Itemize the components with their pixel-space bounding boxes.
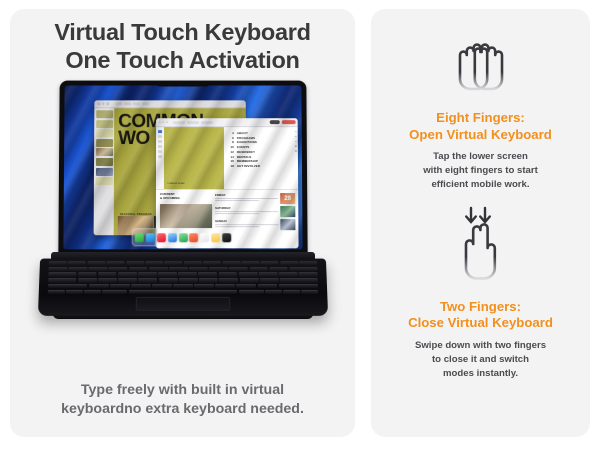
key [257, 284, 277, 288]
key [222, 262, 240, 266]
tip-title-line-1: Eight Fingers: [436, 110, 525, 125]
key [260, 262, 278, 266]
thumbnail-item[interactable] [95, 178, 112, 186]
key [88, 268, 107, 272]
scroll-marker [295, 132, 296, 133]
key-tab [48, 273, 76, 277]
key [118, 279, 137, 283]
key-control [65, 290, 82, 294]
key [278, 273, 297, 277]
browser-tab[interactable] [200, 121, 212, 124]
headline-line-1: Virtual Touch Keyboard [54, 19, 310, 45]
key [145, 262, 163, 266]
macos-dock[interactable] [131, 229, 234, 247]
key [299, 262, 317, 266]
key [209, 268, 228, 272]
key [219, 279, 238, 283]
headline-line-2: One Touch Activation [54, 47, 310, 75]
messages-icon[interactable] [178, 233, 187, 242]
key [189, 268, 208, 272]
key [239, 279, 258, 283]
left-caption: Type freely with built in virtual keyboa… [43, 381, 322, 419]
text-line [215, 200, 259, 201]
key [238, 273, 257, 277]
key [148, 268, 167, 272]
key [138, 279, 157, 283]
sidebar-item[interactable] [158, 145, 162, 148]
scroll-marker [295, 146, 296, 147]
key [87, 262, 105, 266]
tip-title-line-1: Two Fingers: [440, 299, 521, 314]
key [130, 284, 150, 288]
key [183, 262, 201, 266]
page-title: Virtual Touch Keyboard One Touch Activat… [44, 19, 320, 74]
list-item[interactable]: SATURDAY [215, 206, 295, 217]
key-command-right [238, 290, 263, 294]
tip-body-line-1: Tap the lower screen [387, 150, 574, 164]
thumbnail-item[interactable] [95, 158, 112, 166]
key [198, 273, 217, 277]
key-caps [48, 279, 76, 283]
sidebar-item[interactable] [158, 150, 162, 153]
key-return [279, 279, 317, 283]
laptop-lid: COMMON WO SEASONAL PROGRAM [58, 81, 307, 257]
key-fn [47, 290, 64, 294]
tip-title-line-2: Close Virtual Keyboard [381, 315, 580, 332]
day-description [215, 225, 278, 227]
thumbnail-item[interactable] [95, 120, 112, 128]
sidebar-item[interactable] [158, 131, 162, 134]
terminal-icon[interactable] [221, 233, 230, 242]
key [164, 262, 182, 266]
keyboard-row[interactable] [48, 273, 317, 277]
safari-icon[interactable] [145, 233, 154, 242]
right-panel: Eight Fingers: Open Virtual Keyboard Tap… [371, 9, 590, 437]
files-icon[interactable] [211, 233, 220, 242]
key [289, 268, 317, 272]
window-dot-zoom-icon[interactable] [106, 103, 109, 106]
toolbar-chip[interactable] [141, 103, 148, 106]
browser-sidebar[interactable] [155, 128, 163, 190]
key [88, 284, 108, 288]
key [158, 273, 177, 277]
day-thumbnail [280, 206, 295, 217]
key [106, 262, 124, 266]
browser-tab[interactable] [186, 121, 198, 124]
keyboard-row[interactable] [48, 262, 316, 266]
key [118, 273, 137, 277]
date-badge: 28 [280, 193, 295, 204]
key [168, 268, 187, 272]
key [241, 262, 259, 266]
laptop-illustration: COMMON WO SEASONAL PROGRAM [18, 80, 348, 332]
browser-record-button[interactable] [281, 121, 295, 124]
laptop-foot [53, 314, 313, 319]
key [229, 268, 248, 272]
tip-body-line-1: Swipe down with two fingers [387, 339, 574, 353]
scrollbar[interactable] [293, 128, 297, 190]
day-description [215, 212, 278, 214]
day-thumbnail: 28 [280, 193, 295, 204]
key [109, 284, 129, 288]
key [173, 284, 193, 288]
tip-two-fingers: Two Fingers: Close Virtual Keyboard Swip… [371, 198, 590, 381]
key [125, 262, 143, 266]
eight-fingers-two-hands-icon [381, 23, 580, 101]
key [108, 268, 127, 272]
two-fingers-swipe-down-icon [381, 198, 580, 290]
key [280, 262, 298, 266]
toolbar-chip[interactable] [132, 103, 139, 106]
music-icon[interactable] [156, 233, 165, 242]
window-dot-close-icon[interactable] [97, 103, 100, 106]
browser-tab-strip[interactable] [172, 121, 268, 124]
keyboard-row[interactable] [47, 284, 317, 288]
tip-title: Eight Fingers: Open Virtual Keyboard [381, 110, 580, 143]
window-dot-minimize-icon[interactable] [162, 122, 164, 124]
tip-title: Two Fingers: Close Virtual Keyboard [381, 299, 580, 332]
text-line [215, 213, 259, 214]
tip-body-line-2: with eight fingers to start [387, 164, 574, 178]
tip-eight-fingers: Eight Fingers: Open Virtual Keyboard Tap… [371, 23, 590, 192]
key [97, 273, 116, 277]
thumbnail-item[interactable] [95, 130, 112, 138]
key [128, 268, 147, 272]
olive-hero-panel: COMMON WORK [163, 128, 223, 190]
browser-action-button[interactable] [269, 121, 279, 124]
sidebar-item[interactable] [158, 141, 162, 144]
key [202, 262, 220, 266]
browser-tab[interactable] [172, 121, 184, 124]
key [199, 279, 218, 283]
key [218, 273, 237, 277]
keyboard-row[interactable] [48, 279, 318, 283]
left-caption-line-1: Type freely with built in virtual [61, 381, 304, 400]
sidebar-item[interactable] [158, 136, 162, 139]
design-app-toolbar[interactable] [115, 103, 149, 106]
key-command [102, 290, 127, 294]
tip-body: Tap the lower screen with eight fingers … [381, 150, 580, 192]
day-description [215, 198, 278, 200]
scroll-marker [295, 141, 296, 142]
tip-title-line-2: Open Virtual Keyboard [381, 127, 580, 144]
key [68, 268, 87, 272]
key [249, 268, 268, 272]
trackpad[interactable] [135, 297, 230, 311]
sidebar-item[interactable] [158, 155, 162, 158]
toolbar-chip[interactable] [124, 103, 131, 106]
key-arrow-updown [283, 290, 300, 294]
key [48, 262, 66, 266]
photos-icon[interactable] [189, 233, 198, 242]
section-heading: CURRENT & UPCOMING [159, 193, 211, 201]
day-label: SUNDAY [215, 220, 278, 224]
physical-keyboard[interactable] [47, 262, 317, 294]
design-app-thumbnail-rail[interactable] [93, 109, 114, 236]
keyboard-row[interactable] [48, 268, 317, 272]
keyboard-row[interactable] [47, 290, 317, 294]
site-menu-list[interactable]: 4 ABOUT 6 PROGRAMS 8 EXH [223, 128, 293, 190]
key-space [128, 290, 237, 294]
key-option [84, 290, 101, 294]
window-dot-close-icon[interactable] [158, 122, 160, 124]
key-arrow-left [265, 290, 282, 294]
scroll-marker [295, 151, 296, 152]
key [215, 284, 235, 288]
thumbnail-item[interactable] [95, 168, 112, 176]
list-item[interactable]: 18 GET INVOLVED [228, 164, 289, 169]
notes-icon[interactable] [200, 233, 209, 242]
webcam-notch [156, 81, 210, 87]
toolbar-chip[interactable] [115, 103, 122, 106]
tip-body: Swipe down with two fingers to close it … [381, 339, 580, 381]
key [77, 273, 96, 277]
list-item[interactable]: FRIDAY 28 [215, 193, 295, 204]
key [178, 273, 197, 277]
tip-body-line-3: modes instantly. [387, 367, 574, 381]
key-arrow-right [301, 290, 318, 294]
day-label: FRIDAY [215, 193, 278, 197]
tip-body-line-3: efficient mobile work. [387, 178, 574, 192]
laptop-base [37, 259, 327, 316]
key [158, 279, 177, 283]
event-photo [159, 204, 211, 228]
left-caption-line-2: keyboardno extra keyboard needed. [61, 400, 304, 419]
key-shift-right [278, 284, 318, 288]
section-heading-line-2: & UPCOMING [159, 197, 211, 201]
left-panel: Virtual Touch Keyboard One Touch Activat… [10, 9, 355, 437]
thumbnail-item[interactable] [95, 139, 112, 147]
key [77, 279, 96, 283]
key [269, 268, 288, 272]
key [298, 273, 317, 277]
key [48, 268, 67, 272]
menu-label: GET INVOLVED [236, 164, 259, 169]
key-shift [47, 284, 87, 288]
key [194, 284, 214, 288]
key [152, 284, 172, 288]
olive-panel-caption: COMMON WORK [166, 183, 184, 186]
key [68, 262, 86, 266]
thumbnail-item[interactable] [95, 149, 112, 157]
key [178, 279, 197, 283]
window-dot-minimize-icon[interactable] [101, 103, 104, 106]
scroll-marker [295, 136, 296, 137]
key [138, 273, 157, 277]
key [259, 279, 278, 283]
laptop-screen: COMMON WO SEASONAL PROGRAM [63, 86, 302, 250]
mail-icon[interactable] [167, 233, 176, 242]
finder-icon[interactable] [135, 233, 144, 242]
day-thumbnail [280, 220, 295, 231]
menu-number: 18 [228, 164, 233, 169]
key [236, 284, 256, 288]
infographic-canvas: Virtual Touch Keyboard One Touch Activat… [0, 0, 600, 450]
key [98, 279, 117, 283]
tip-body-line-2: to close it and switch [387, 353, 574, 367]
thumbnail-item[interactable] [95, 111, 112, 119]
key [258, 273, 277, 277]
text-line [215, 226, 259, 227]
day-label: SATURDAY [215, 206, 278, 210]
window-dot-zoom-icon[interactable] [165, 122, 167, 124]
